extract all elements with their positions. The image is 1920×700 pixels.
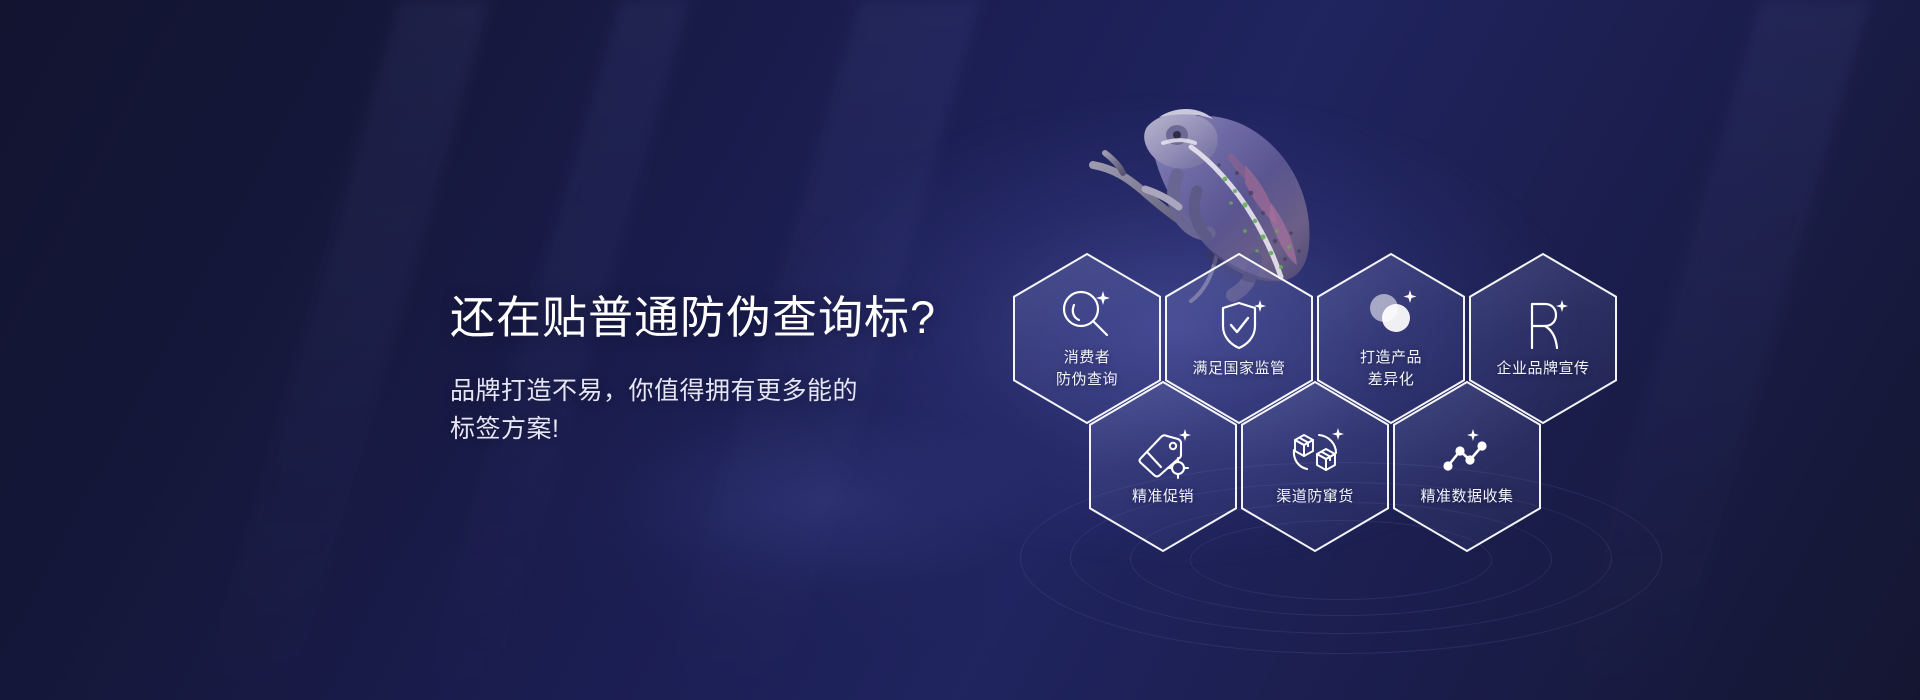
hex-cell-precise-promotion[interactable]: 精准促销 [1089, 381, 1237, 552]
hex-label: 精准促销 [1132, 486, 1194, 508]
shield-check-icon [1210, 298, 1268, 352]
hero-text-block: 还在贴普通防伪查询标? 品牌打造不易，你值得拥有更多能的标签方案! [450, 290, 936, 448]
hero-banner: 还在贴普通防伪查询标? 品牌打造不易，你值得拥有更多能的标签方案! 消费者 [0, 0, 1920, 700]
hex-label: 企业品牌宣传 [1496, 358, 1589, 380]
hex-label: 精准数据收集 [1420, 486, 1513, 508]
hex-cell-anti-diversion[interactable]: 渠道防窜货 [1241, 381, 1389, 552]
hero-subtitle: 品牌打造不易，你值得拥有更多能的标签方案! [450, 372, 865, 448]
registered-r-icon [1514, 298, 1572, 352]
hex-cell-data-collection[interactable]: 精准数据收集 [1393, 381, 1541, 552]
overlapping-circles-icon [1362, 287, 1420, 341]
hex-label: 满足国家监管 [1192, 358, 1285, 380]
hex-label: 渠道防窜货 [1276, 486, 1354, 508]
boxes-cycle-icon [1286, 426, 1344, 480]
price-tag-icon [1134, 426, 1192, 480]
feature-hexgrid: 消费者 防伪查询 满足国家监管 [1013, 253, 1633, 553]
page-title: 还在贴普通防伪查询标? [450, 290, 936, 346]
line-chart-nodes-icon [1438, 426, 1496, 480]
magnifier-icon [1058, 287, 1116, 341]
